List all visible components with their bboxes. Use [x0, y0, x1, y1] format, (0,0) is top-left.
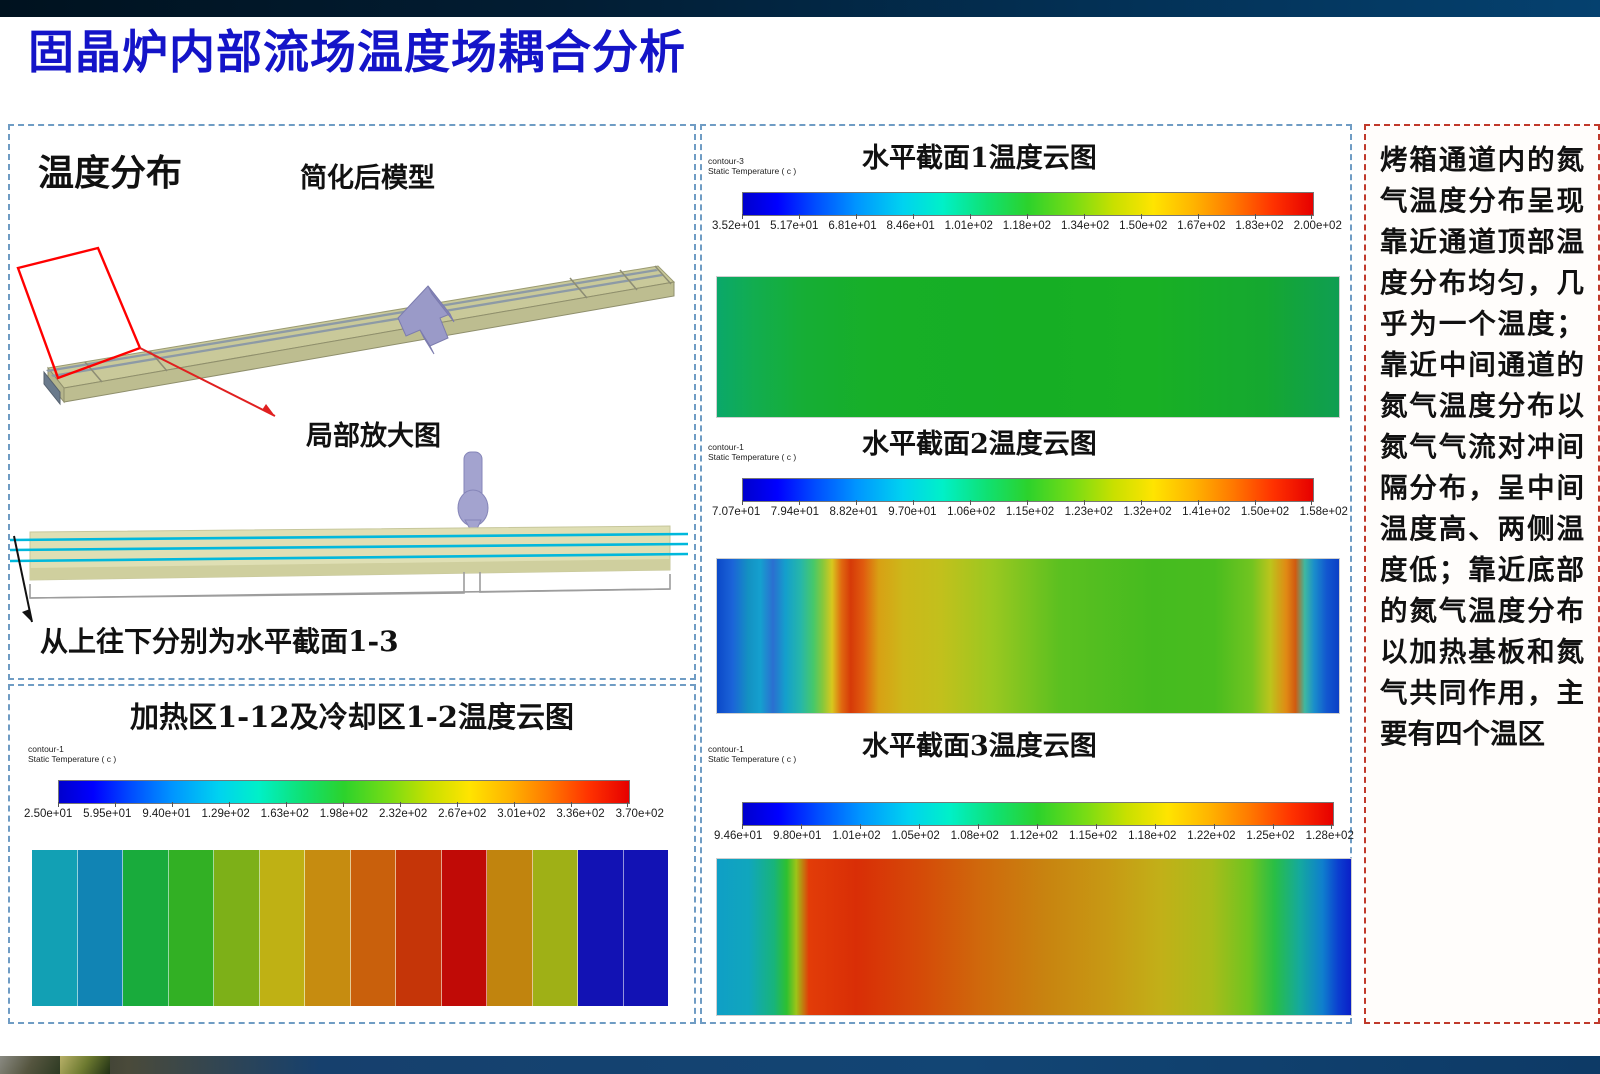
colorbar-section-3 — [742, 802, 1334, 826]
heating-cooling-zone-strip — [32, 850, 668, 1006]
tick-label: 1.58e+02 — [1300, 506, 1348, 518]
tick-label: 3.52e+01 — [712, 220, 760, 232]
tick-label: 9.80e+01 — [773, 830, 821, 842]
tick-label: 3.70e+02 — [616, 808, 664, 820]
tick-label: 1.83e+02 — [1235, 220, 1283, 232]
colorbar-tick-labels-section-2: 7.07e+01 7.94e+01 8.82e+01 9.70e+01 1.06… — [712, 506, 1348, 518]
heating-zone-6 — [260, 850, 306, 1006]
legend-variable: Static Temperature ( c ) — [708, 166, 796, 176]
contour-plot-section-1 — [716, 276, 1340, 418]
legend-header-section-1: contour-3 Static Temperature ( c ) — [708, 156, 796, 176]
heating-colorbar — [58, 780, 630, 804]
heating-legend-variable: Static Temperature ( c ) — [28, 754, 116, 764]
tick-label: 2.00e+02 — [1294, 220, 1342, 232]
tick-label: 1.15e+02 — [1006, 506, 1054, 518]
tick-label: 1.41e+02 — [1182, 506, 1230, 518]
colorbar-section-2 — [742, 478, 1314, 502]
tick-label: 5.17e+01 — [770, 220, 818, 232]
simplified-model-3d-view — [10, 226, 694, 446]
page-title: 固晶炉内部流场温度场耦合分析 — [28, 26, 686, 78]
analysis-note-panel: 烤箱通道内的氮气温度分布呈现靠近通道顶部温度分布均匀，几乎为一个温度；靠近中间通… — [1364, 124, 1600, 1024]
tick-label: 1.34e+02 — [1061, 220, 1109, 232]
heating-zone-9 — [396, 850, 442, 1006]
figure-title-section-3: 水平截面3温度云图 — [862, 724, 1097, 763]
heating-zone-2 — [78, 850, 124, 1006]
tick-label: 9.46e+01 — [714, 830, 762, 842]
colorbar-ticks-section-3 — [742, 824, 1332, 829]
tick-label: 1.05e+02 — [891, 830, 939, 842]
detail-svg — [10, 446, 694, 626]
legend-header-section-3: contour-1 Static Temperature ( c ) — [708, 744, 796, 764]
tick-label: 2.32e+02 — [379, 808, 427, 820]
legend-contour-name: contour-1 — [708, 744, 744, 754]
heating-zone-10 — [442, 850, 488, 1006]
contour-plot-section-2 — [716, 558, 1340, 714]
tick-label: 1.50e+02 — [1241, 506, 1289, 518]
slide-bottom-band — [0, 1056, 1600, 1074]
legend-variable: Static Temperature ( c ) — [708, 754, 796, 764]
colorbar-tick-labels-section-3: 9.46e+01 9.80e+01 1.01e+02 1.05e+02 1.08… — [714, 830, 1354, 842]
section-order-note: 从上往下分别为水平截面1-3 — [40, 620, 399, 660]
analysis-note-text: 烤箱通道内的氮气温度分布呈现靠近通道顶部温度分布均匀，几乎为一个温度；靠近中间通… — [1380, 140, 1584, 755]
heating-zone-figure-title: 加热区1-12及冷却区1-2温度云图 — [130, 694, 574, 736]
cooling-zone-2 — [624, 850, 669, 1006]
tick-label: 1.32e+02 — [1123, 506, 1171, 518]
heating-zone-3 — [123, 850, 169, 1006]
tick-label: 1.25e+02 — [1246, 830, 1294, 842]
tick-label: 6.81e+01 — [828, 220, 876, 232]
tick-label: 1.01e+02 — [945, 220, 993, 232]
tick-label: 1.01e+02 — [832, 830, 880, 842]
tick-label: 5.95e+01 — [83, 808, 131, 820]
contour-plot-section-3 — [716, 858, 1352, 1016]
tick-label: 1.63e+02 — [261, 808, 309, 820]
horizontal-sections-panel: 水平截面1温度云图 contour-3 Static Temperature (… — [700, 124, 1352, 1024]
heating-colorbar-tick-labels: 2.50e+01 5.95e+01 9.40e+01 1.29e+02 1.63… — [24, 808, 664, 820]
legend-contour-name: contour-1 — [708, 442, 744, 452]
heating-legend-header: contour-1 Static Temperature ( c ) — [28, 744, 116, 764]
tick-label: 2.50e+01 — [24, 808, 72, 820]
tick-label: 8.82e+01 — [830, 506, 878, 518]
tick-label: 1.12e+02 — [1010, 830, 1058, 842]
tick-label: 3.01e+02 — [497, 808, 545, 820]
slide-top-band — [0, 0, 1600, 17]
tick-label: 1.29e+02 — [201, 808, 249, 820]
tick-label: 1.23e+02 — [1065, 506, 1113, 518]
tick-label: 1.50e+02 — [1119, 220, 1167, 232]
heating-colorbar-ticks — [58, 802, 628, 807]
tick-label: 1.18e+02 — [1128, 830, 1176, 842]
tick-label: 1.98e+02 — [320, 808, 368, 820]
legend-variable: Static Temperature ( c ) — [708, 452, 796, 462]
tick-label: 1.18e+02 — [1003, 220, 1051, 232]
colorbar-ticks-section-2 — [742, 500, 1312, 505]
heating-zone-4 — [169, 850, 215, 1006]
heating-zone-7 — [305, 850, 351, 1006]
heating-zone-11 — [487, 850, 533, 1006]
colorbar-ticks-section-1 — [742, 214, 1312, 219]
cooling-zone-1 — [578, 850, 624, 1006]
section-label-temperature-distribution: 温度分布 — [38, 144, 182, 196]
colorbar-tick-labels-section-1: 3.52e+01 5.17e+01 6.81e+01 8.46e+01 1.01… — [712, 220, 1342, 232]
tick-label: 1.15e+02 — [1069, 830, 1117, 842]
figure-title-section-1: 水平截面1温度云图 — [862, 136, 1097, 175]
local-zoom-detail-view — [10, 446, 694, 626]
tick-label: 1.08e+02 — [951, 830, 999, 842]
figure-title-section-2: 水平截面2温度云图 — [862, 422, 1097, 461]
tick-label: 2.67e+02 — [438, 808, 486, 820]
colorbar-section-1 — [742, 192, 1314, 216]
tick-label: 9.40e+01 — [142, 808, 190, 820]
caption-simplified-model: 简化后模型 — [300, 156, 435, 195]
tick-label: 8.46e+01 — [886, 220, 934, 232]
heating-zone-8 — [351, 850, 397, 1006]
tick-label: 1.06e+02 — [947, 506, 995, 518]
tick-label: 3.36e+02 — [556, 808, 604, 820]
tick-label: 9.70e+01 — [888, 506, 936, 518]
heating-cooling-zone-panel: 加热区1-12及冷却区1-2温度云图 contour-1 Static Temp… — [8, 684, 696, 1024]
legend-header-section-2: contour-1 Static Temperature ( c ) — [708, 442, 796, 462]
heating-zone-5 — [214, 850, 260, 1006]
bottom-thumbnail-1 — [0, 1056, 60, 1074]
tick-label: 7.94e+01 — [771, 506, 819, 518]
tick-label: 1.22e+02 — [1187, 830, 1235, 842]
legend-contour-name: contour-3 — [708, 156, 744, 166]
temperature-distribution-panel: 温度分布 简化后模型 局部放大图 — [8, 124, 696, 680]
model-svg — [10, 226, 694, 446]
bottom-thumbnail-2 — [60, 1056, 110, 1074]
heating-legend-contour-name: contour-1 — [28, 744, 64, 754]
heating-zone-1 — [32, 850, 78, 1006]
tick-label: 7.07e+01 — [712, 506, 760, 518]
heating-zone-12 — [533, 850, 579, 1006]
tick-label: 1.28e+02 — [1306, 830, 1354, 842]
tick-label: 1.67e+02 — [1177, 220, 1225, 232]
